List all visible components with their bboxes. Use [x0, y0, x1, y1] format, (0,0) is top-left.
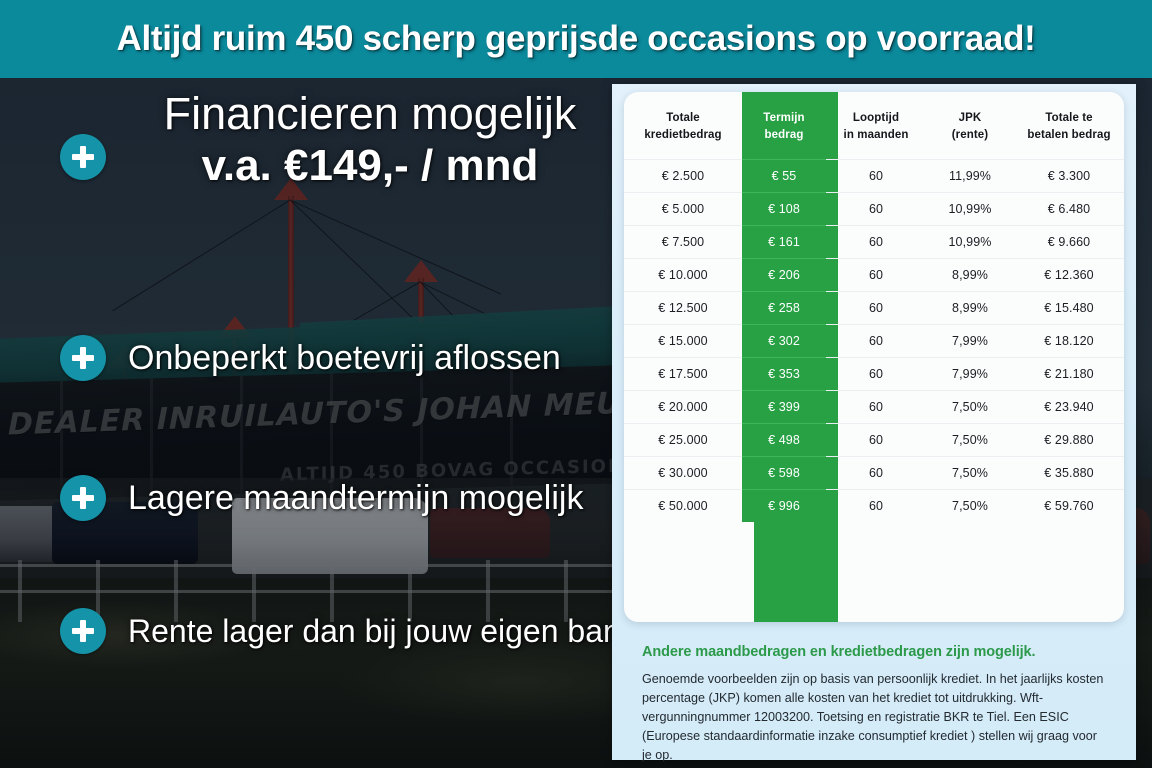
- table-cell: 60: [826, 391, 926, 424]
- legal-body: Genoemde voorbeelden zijn op basis van p…: [642, 670, 1108, 764]
- plus-icon: [60, 475, 106, 521]
- table-cell: 11,99%: [926, 160, 1014, 193]
- column-header-monthly-amount: Termijn bedrag: [742, 92, 826, 160]
- feature-item-2[interactable]: Rente lager dan bij jouw eigen bank: [60, 608, 637, 654]
- headline-line1: Financieren mogelijk: [120, 90, 620, 137]
- table-cell: 7,50%: [926, 457, 1014, 490]
- legal-section: Andere maandbedragen en kredietbedragen …: [642, 644, 1108, 764]
- headline-line2: v.a. €149,- / mnd: [120, 141, 620, 192]
- table-cell: € 399: [742, 391, 826, 424]
- table-row: € 15.000€ 302607,99%€ 18.120: [624, 325, 1124, 358]
- table-row: € 10.000€ 206608,99%€ 12.360: [624, 259, 1124, 292]
- top-banner: Altijd ruim 450 scherp geprijsde occasio…: [0, 0, 1152, 78]
- table-cell: € 498: [742, 424, 826, 457]
- table-cell: € 108: [742, 193, 826, 226]
- table-cell: € 598: [742, 457, 826, 490]
- rates-table: Totale kredietbedrag Termijn bedrag Loop…: [624, 92, 1124, 522]
- table-row: € 30.000€ 598607,50%€ 35.880: [624, 457, 1124, 490]
- table-cell: 60: [826, 457, 926, 490]
- table-cell: € 353: [742, 358, 826, 391]
- table-row: € 12.500€ 258608,99%€ 15.480: [624, 292, 1124, 325]
- table-cell: € 29.880: [1014, 424, 1124, 457]
- banner-text: Altijd ruim 450 scherp geprijsde occasio…: [116, 19, 1035, 59]
- table-cell: € 7.500: [624, 226, 742, 259]
- advertisement-stage: DEALER INRUILAUTO'S JOHAN MEURE ALTIJD 4…: [0, 0, 1152, 768]
- table-cell: € 258: [742, 292, 826, 325]
- table-cell: € 55: [742, 160, 826, 193]
- table-cell: 60: [826, 424, 926, 457]
- table-cell: € 17.500: [624, 358, 742, 391]
- table-cell: € 206: [742, 259, 826, 292]
- column-header-total-payable: Totale te betalen bedrag: [1014, 92, 1124, 160]
- plus-icon: [60, 608, 106, 654]
- table-cell: 10,99%: [926, 193, 1014, 226]
- table-header-row: Totale kredietbedrag Termijn bedrag Loop…: [624, 92, 1124, 160]
- table-row: € 2.500€ 556011,99%€ 3.300: [624, 160, 1124, 193]
- table-cell: 7,50%: [926, 424, 1014, 457]
- table-row: € 50.000€ 996607,50%€ 59.760: [624, 490, 1124, 523]
- table-cell: € 9.660: [1014, 226, 1124, 259]
- column-header-total-credit: Totale kredietbedrag: [624, 92, 742, 160]
- legal-title: Andere maandbedragen en kredietbedragen …: [642, 644, 1108, 660]
- table-cell: € 15.000: [624, 325, 742, 358]
- table-cell: 60: [826, 490, 926, 523]
- table-cell: 60: [826, 292, 926, 325]
- table-cell: € 50.000: [624, 490, 742, 523]
- rates-panel: Totale kredietbedrag Termijn bedrag Loop…: [612, 84, 1136, 760]
- hero-headline: Financieren mogelijk v.a. €149,- / mnd: [120, 90, 620, 192]
- feature-label: Lagere maandtermijn mogelijk: [128, 479, 583, 518]
- table-cell: € 12.500: [624, 292, 742, 325]
- table-cell: 7,99%: [926, 358, 1014, 391]
- feature-item-1[interactable]: Lagere maandtermijn mogelijk: [60, 475, 583, 521]
- table-cell: € 18.120: [1014, 325, 1124, 358]
- table-cell: 8,99%: [926, 292, 1014, 325]
- feature-list: Financieren mogelijk v.a. €149,- / mnd O…: [0, 78, 620, 768]
- table-row: € 25.000€ 498607,50%€ 29.880: [624, 424, 1124, 457]
- table-cell: € 25.000: [624, 424, 742, 457]
- table-cell: € 2.500: [624, 160, 742, 193]
- plus-icon: [60, 134, 106, 180]
- table-cell: € 30.000: [624, 457, 742, 490]
- table-cell: € 302: [742, 325, 826, 358]
- table-row: € 17.500€ 353607,99%€ 21.180: [624, 358, 1124, 391]
- table-cell: € 10.000: [624, 259, 742, 292]
- rates-table-body: € 2.500€ 556011,99%€ 3.300€ 5.000€ 10860…: [624, 160, 1124, 523]
- feature-label: Onbeperkt boetevrij aflossen: [128, 339, 561, 378]
- table-cell: 10,99%: [926, 226, 1014, 259]
- table-cell: 7,50%: [926, 490, 1014, 523]
- feature-label: Rente lager dan bij jouw eigen bank: [128, 613, 637, 650]
- table-cell: 60: [826, 259, 926, 292]
- plus-icon: [60, 335, 106, 381]
- column-header-jpk: JPK (rente): [926, 92, 1014, 160]
- table-cell: € 15.480: [1014, 292, 1124, 325]
- table-cell: 60: [826, 193, 926, 226]
- table-cell: € 161: [742, 226, 826, 259]
- table-cell: 60: [826, 325, 926, 358]
- table-cell: € 59.760: [1014, 490, 1124, 523]
- table-row: € 5.000€ 1086010,99%€ 6.480: [624, 193, 1124, 226]
- table-cell: € 996: [742, 490, 826, 523]
- table-cell: € 21.180: [1014, 358, 1124, 391]
- table-cell: 8,99%: [926, 259, 1014, 292]
- rates-table-card: Totale kredietbedrag Termijn bedrag Loop…: [624, 92, 1124, 622]
- table-cell: 7,50%: [926, 391, 1014, 424]
- table-cell: € 20.000: [624, 391, 742, 424]
- table-cell: 60: [826, 358, 926, 391]
- table-cell: € 12.360: [1014, 259, 1124, 292]
- table-cell: 7,99%: [926, 325, 1014, 358]
- feature-item-0[interactable]: Onbeperkt boetevrij aflossen: [60, 335, 561, 381]
- feature-item-financing[interactable]: [60, 134, 106, 180]
- table-row: € 20.000€ 399607,50%€ 23.940: [624, 391, 1124, 424]
- table-cell: € 3.300: [1014, 160, 1124, 193]
- table-cell: € 5.000: [624, 193, 742, 226]
- table-cell: 60: [826, 226, 926, 259]
- table-cell: 60: [826, 160, 926, 193]
- table-cell: € 35.880: [1014, 457, 1124, 490]
- table-row: € 7.500€ 1616010,99%€ 9.660: [624, 226, 1124, 259]
- table-cell: € 6.480: [1014, 193, 1124, 226]
- table-cell: € 23.940: [1014, 391, 1124, 424]
- column-header-duration: Looptijd in maanden: [826, 92, 926, 160]
